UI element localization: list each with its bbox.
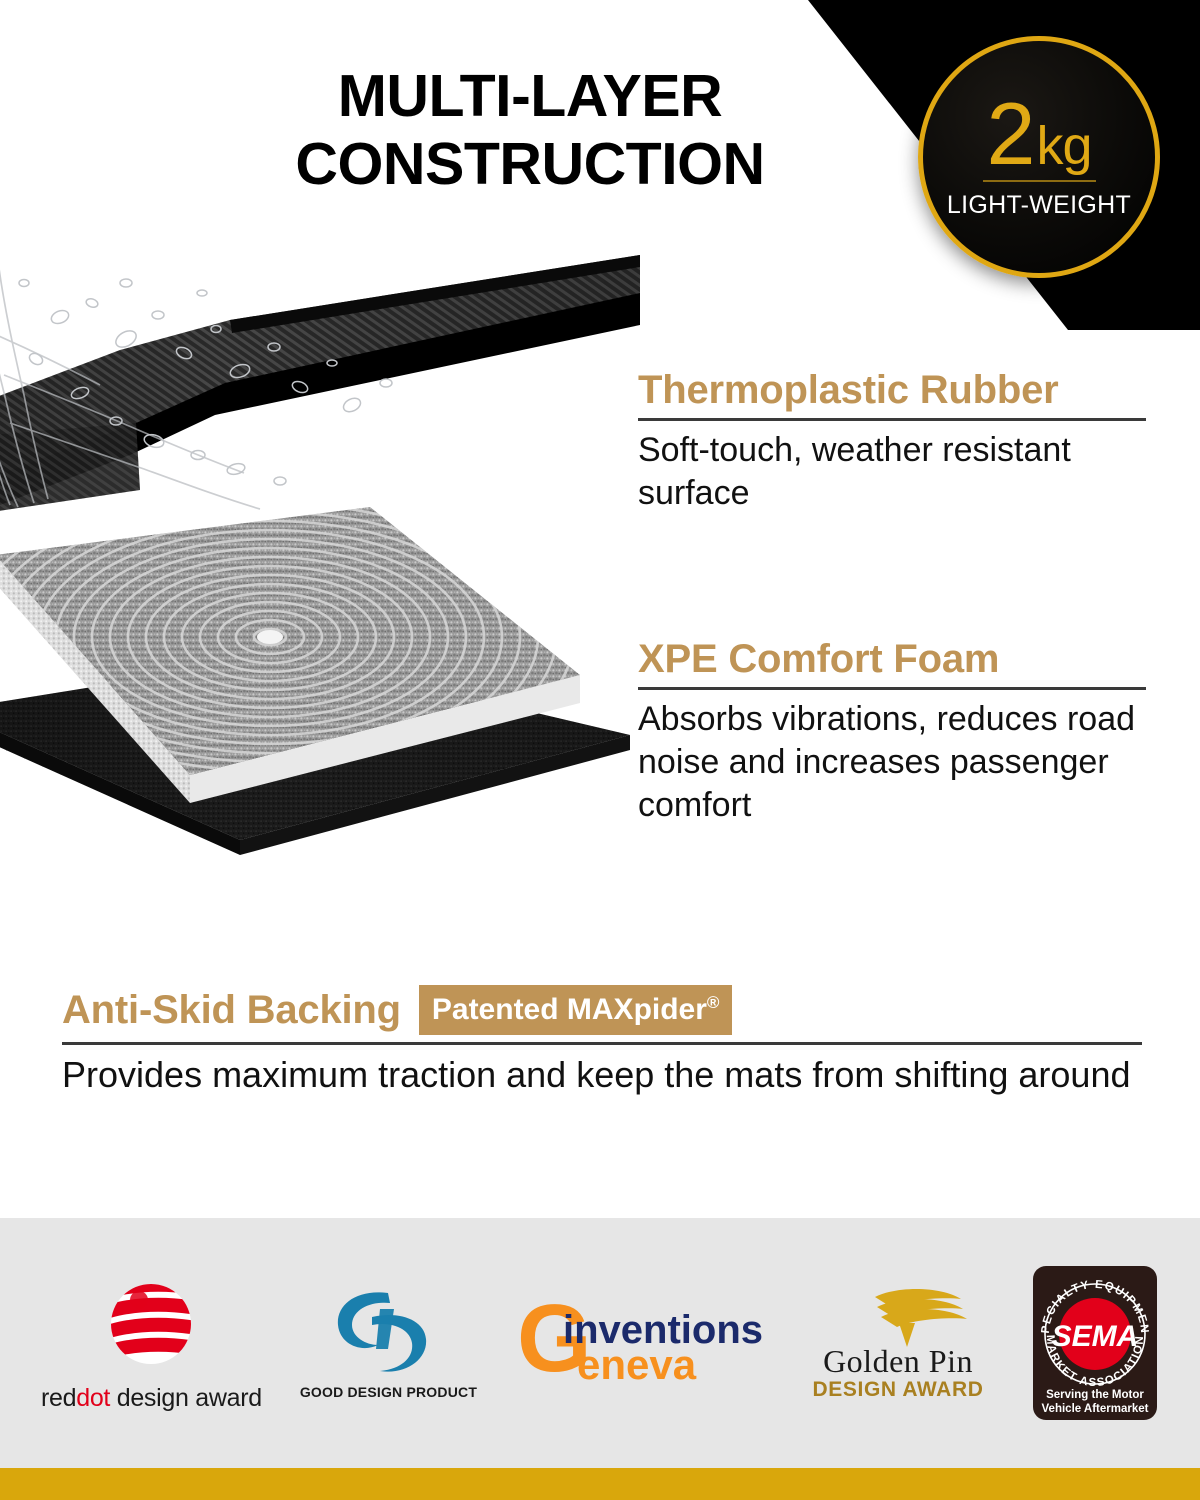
- bottom-gold-bar: [0, 1468, 1200, 1500]
- page-title-line1: MULTI-LAYER: [250, 62, 810, 130]
- feature-divider: [638, 687, 1146, 690]
- award-inventions-geneva: G inventions eneva: [515, 1297, 765, 1389]
- light-weight-badge: 2 kg LIGHT-WEIGHT: [918, 36, 1160, 278]
- awards-logo-row: reddot design award GOOD DESIGN PRODUCT …: [0, 1218, 1200, 1468]
- patented-maxpider-tag: Patented MAXpider®: [419, 985, 733, 1035]
- eneva-word: eneva: [577, 1341, 697, 1388]
- feature-heading-row: Anti-Skid Backing Patented MAXpider®: [62, 985, 1142, 1035]
- sema-center-text: SEMA: [1052, 1320, 1139, 1353]
- badge-label: LIGHT-WEIGHT: [947, 191, 1131, 220]
- feature-heading: Thermoplastic Rubber: [638, 368, 1146, 413]
- golden-pin-main: Golden Pin: [813, 1343, 984, 1380]
- golden-pin-sub: DESIGN AWARD: [813, 1378, 984, 1402]
- reddot-sphere-icon: [99, 1274, 203, 1378]
- feature-body: Soft-touch, weather resistant surface: [638, 429, 1146, 515]
- feature-anti-skid-backing: Anti-Skid Backing Patented MAXpider® Pro…: [62, 985, 1142, 1097]
- product-illustration: [0, 255, 640, 955]
- feature-body: Absorbs vibrations, reduces road noise a…: [638, 698, 1146, 828]
- award-good-design-product: GOOD DESIGN PRODUCT: [300, 1287, 477, 1400]
- golden-pin-swirl-icon: [803, 1285, 993, 1347]
- feature-body: Provides maximum traction and keep the m…: [62, 1053, 1142, 1097]
- reddot-text-dot: dot: [76, 1384, 110, 1412]
- feature-divider: [62, 1042, 1142, 1045]
- sema-caption-line1: Serving the Motor: [1046, 1389, 1144, 1401]
- sema-caption-line2: Vehicle Aftermarket: [1042, 1403, 1149, 1415]
- inventions-geneva-logo-icon: G inventions eneva: [515, 1297, 765, 1389]
- badge-weight-value: 2: [987, 94, 1035, 175]
- page-title-line2: CONSTRUCTION: [250, 130, 810, 198]
- badge-weight-unit: kg: [1036, 119, 1091, 173]
- reddot-text-rest: design award: [110, 1384, 262, 1412]
- feature-heading: XPE Comfort Foam: [638, 637, 1146, 682]
- registered-trademark-icon: ®: [707, 993, 720, 1012]
- page-title: MULTI-LAYER CONSTRUCTION: [250, 62, 810, 199]
- good-design-caption: GOOD DESIGN PRODUCT: [300, 1384, 477, 1400]
- award-sema: SPECIALTY EQUIPMENT MARKET ASSOCIATION S…: [1031, 1264, 1159, 1422]
- badge-weight: 2 kg: [983, 94, 1096, 183]
- awards-footer: reddot design award GOOD DESIGN PRODUCT …: [0, 1218, 1200, 1468]
- golden-pin-wordmark: Golden Pin DESIGN AWARD: [813, 1343, 984, 1402]
- award-golden-pin-design-award: Golden Pin DESIGN AWARD: [803, 1285, 993, 1402]
- reddot-wordmark: reddot design award: [41, 1384, 262, 1413]
- feature-divider: [638, 418, 1146, 421]
- feature-thermoplastic-rubber: Thermoplastic Rubber Soft-touch, weather…: [638, 368, 1146, 515]
- tag-text: Patented MAXpider: [432, 993, 707, 1026]
- sema-logo-icon: SPECIALTY EQUIPMENT MARKET ASSOCIATION S…: [1031, 1264, 1159, 1422]
- award-reddot-design-award: reddot design award: [41, 1274, 262, 1413]
- feature-xpe-comfort-foam: XPE Comfort Foam Absorbs vibrations, red…: [638, 637, 1146, 828]
- reddot-text-red: red: [41, 1384, 76, 1412]
- feature-heading: Anti-Skid Backing: [62, 988, 401, 1033]
- gd-monogram-icon: [328, 1287, 448, 1379]
